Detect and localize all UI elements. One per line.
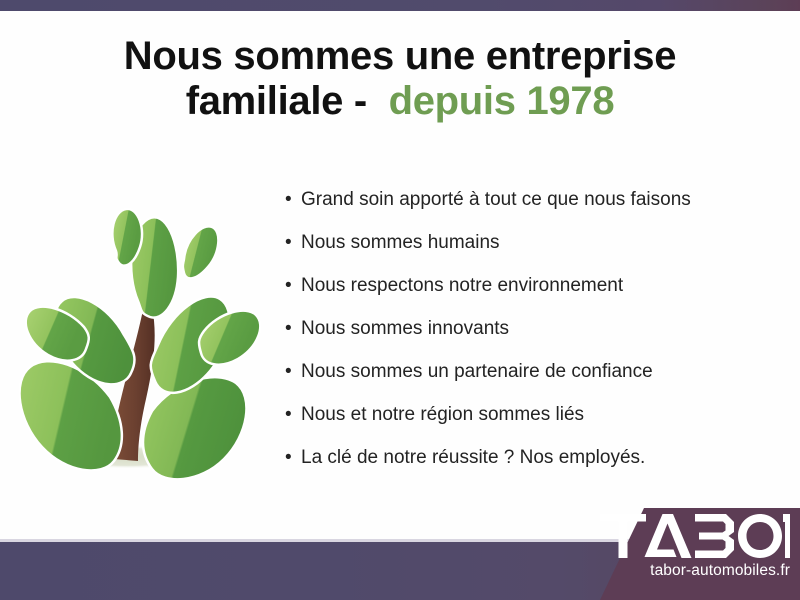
logo-tagline: tabor-automobiles.fr [600, 562, 790, 580]
bullet-marker-icon: • [285, 317, 301, 340]
tabor-logo [600, 514, 790, 558]
tree-icon [12, 185, 277, 485]
list-item-label: La clé de notre réussite ? Nos employés. [301, 446, 645, 469]
value-bullet-list: • Grand soin apporté à tout ce que nous … [285, 188, 775, 489]
bullet-marker-icon: • [285, 231, 301, 254]
bullet-marker-icon: • [285, 188, 301, 211]
bullet-marker-icon: • [285, 274, 301, 297]
page-title: Nous sommes une entreprise familiale - d… [0, 34, 800, 124]
bullet-marker-icon: • [285, 403, 301, 426]
bullet-marker-icon: • [285, 446, 301, 469]
list-item-label: Nous sommes un partenaire de confiance [301, 360, 653, 383]
title-line-2-plain: familiale - [186, 79, 367, 123]
list-item: • Nous sommes innovants [285, 317, 775, 360]
list-item: • Nous sommes un partenaire de confiance [285, 360, 775, 403]
list-item: • Nous respectons notre environnement [285, 274, 775, 317]
list-item-label: Nous sommes humains [301, 231, 500, 254]
list-item-label: Nous sommes innovants [301, 317, 509, 340]
list-item-label: Nous et notre région sommes liés [301, 403, 584, 426]
list-item-label: Grand soin apporté à tout ce que nous fa… [301, 188, 691, 211]
title-line-2: familiale - depuis 1978 [0, 79, 800, 124]
slide-canvas: Nous sommes une entreprise familiale - d… [0, 0, 800, 600]
list-item: • La clé de notre réussite ? Nos employé… [285, 446, 775, 489]
list-item-label: Nous respectons notre environnement [301, 274, 623, 297]
list-item: • Grand soin apporté à tout ce que nous … [285, 188, 775, 231]
bullet-marker-icon: • [285, 360, 301, 383]
tree-illustration [12, 185, 277, 485]
title-line-2-accent: depuis 1978 [389, 79, 615, 123]
list-item: • Nous et notre région sommes liés [285, 403, 775, 446]
tree-leaf-top-right-icon [183, 226, 219, 278]
list-item: • Nous sommes humains [285, 231, 775, 274]
title-line-1: Nous sommes une entreprise [0, 34, 800, 79]
tree-leaf-lower-right-icon [143, 377, 246, 479]
tabor-wordmark-icon [600, 514, 790, 558]
top-accent-bar [0, 0, 800, 11]
